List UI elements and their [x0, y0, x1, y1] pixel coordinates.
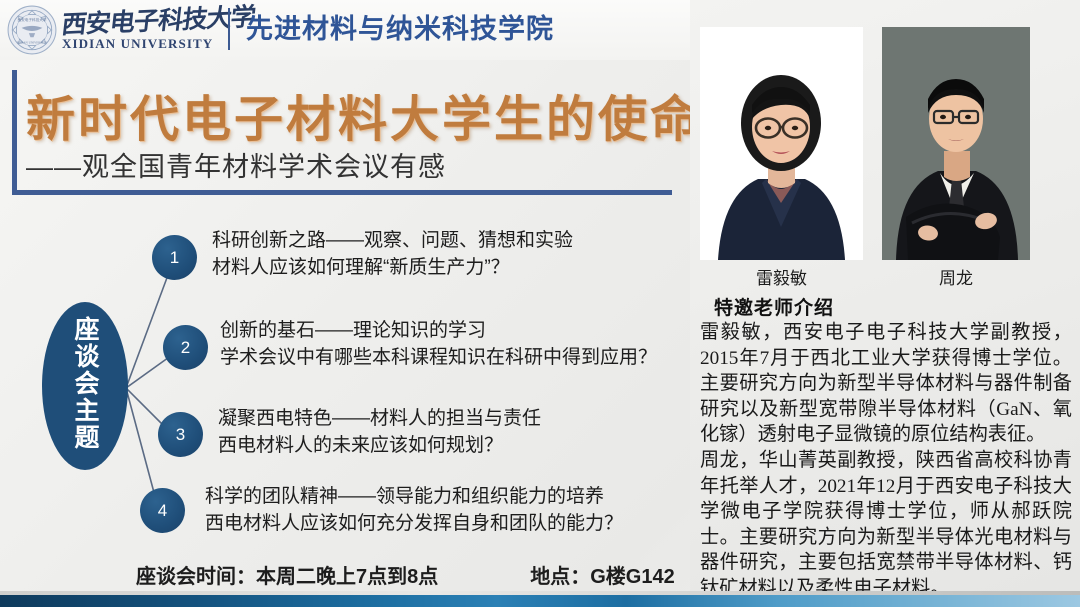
- topic-2-line-2: 学术会议中有哪些本科课程知识在科研中得到应用？: [220, 344, 657, 371]
- page-subtitle: ——观全国青年材料学术会议有感: [26, 145, 446, 184]
- topic-1-line-1: 科研创新之路——观察、问题、猜想和实验: [212, 227, 573, 254]
- title-rule-vertical: [12, 70, 17, 195]
- topics-diagram: 座谈会主题 1 2 3 4 科研创新之路——观察、问题、猜想和实验 材料人应该如…: [0, 200, 690, 560]
- topic-1-line-2: 材料人应该如何理解“新质生产力”？: [212, 254, 573, 281]
- diagram-hub: 座谈会主题: [42, 302, 128, 470]
- speaker-name-zhou-long: 周龙: [882, 264, 1030, 289]
- university-seal-icon: 西安电子科技大学 XIDIAN UNIVERSITY: [6, 4, 58, 56]
- bio-body: 雷毅敏，西安电子电子科技大学副教授，2015年7月于西北工业大学获得博士学位。主…: [700, 320, 1072, 602]
- bottom-color-strip: [0, 595, 1080, 607]
- topic-4-line-1: 科学的团队精神——领导能力和组织能力的培养: [205, 483, 623, 510]
- event-place: 地点：G楼G142: [530, 560, 674, 589]
- event-time: 座谈会时间：本周二晚上7点到8点: [136, 560, 438, 589]
- speakers-panel: 雷毅敏 周龙 特邀老师介绍 雷毅敏，西安电子电子科技大学副教授，2015年7月于…: [690, 0, 1080, 595]
- title-rule-horizontal: [12, 190, 672, 195]
- svg-text:XIDIAN UNIVERSITY: XIDIAN UNIVERSITY: [17, 41, 48, 45]
- university-logo-english: XIDIAN UNIVERSITY: [62, 36, 217, 52]
- svg-text:西安电子科技大学: 西安电子科技大学: [18, 17, 47, 22]
- page-title: 新时代电子材料大学生的使命: [26, 80, 702, 151]
- event-footer: 座谈会时间：本周二晚上7点到8点 地点：G楼G142: [136, 560, 675, 589]
- topic-text-1: 科研创新之路——观察、问题、猜想和实验 材料人应该如何理解“新质生产力”？: [212, 227, 573, 281]
- bio-heading: 特邀老师介绍: [714, 293, 834, 320]
- topic-4-line-2: 西电材料人应该如何充分发挥自身和团队的能力？: [205, 510, 623, 537]
- topic-2-line-1: 创新的基石——理论知识的学习: [220, 317, 657, 344]
- topic-3-line-2: 西电材料人的未来应该如何规划？: [218, 432, 541, 459]
- portrait-illustration-zhou-long: [882, 27, 1030, 260]
- header-divider: [228, 8, 230, 50]
- portrait-photo-zhou-long: [882, 27, 1030, 260]
- topic-text-3: 凝聚西电特色——材料人的担当与责任 西电材料人的未来应该如何规划？: [218, 405, 541, 459]
- topic-text-4: 科学的团队精神——领导能力和组织能力的培养 西电材料人应该如何充分发挥自身和团队…: [205, 483, 623, 537]
- bio-paragraph-2: 周龙，华山菁英副教授，陕西省高校科协青年托举人才，2021年12月于西安电子科技…: [700, 448, 1072, 602]
- bio-paragraph-1: 雷毅敏，西安电子电子科技大学副教授，2015年7月于西北工业大学获得博士学位。主…: [700, 320, 1072, 448]
- portrait-photo-lei-yimin: [700, 27, 863, 260]
- portrait-illustration-lei-yimin: [700, 27, 863, 260]
- topic-3-line-1: 凝聚西电特色——材料人的担当与责任: [218, 405, 541, 432]
- topic-node-2[interactable]: 2: [163, 325, 208, 370]
- speaker-name-lei-yimin: 雷毅敏: [700, 264, 863, 289]
- topic-node-1[interactable]: 1: [152, 235, 197, 280]
- topic-text-2: 创新的基石——理论知识的学习 学术会议中有哪些本科课程知识在科研中得到应用？: [220, 317, 657, 371]
- department-name: 先进材料与纳米科技学院: [246, 8, 554, 50]
- presentation-slide: 西安电子科技大学 XIDIAN UNIVERSITY 西安电子科技大学 XIDI…: [0, 0, 1080, 607]
- topic-node-3[interactable]: 3: [158, 412, 203, 457]
- diagram-hub-label: 座谈会主题: [70, 316, 100, 456]
- topic-node-4[interactable]: 4: [140, 488, 185, 533]
